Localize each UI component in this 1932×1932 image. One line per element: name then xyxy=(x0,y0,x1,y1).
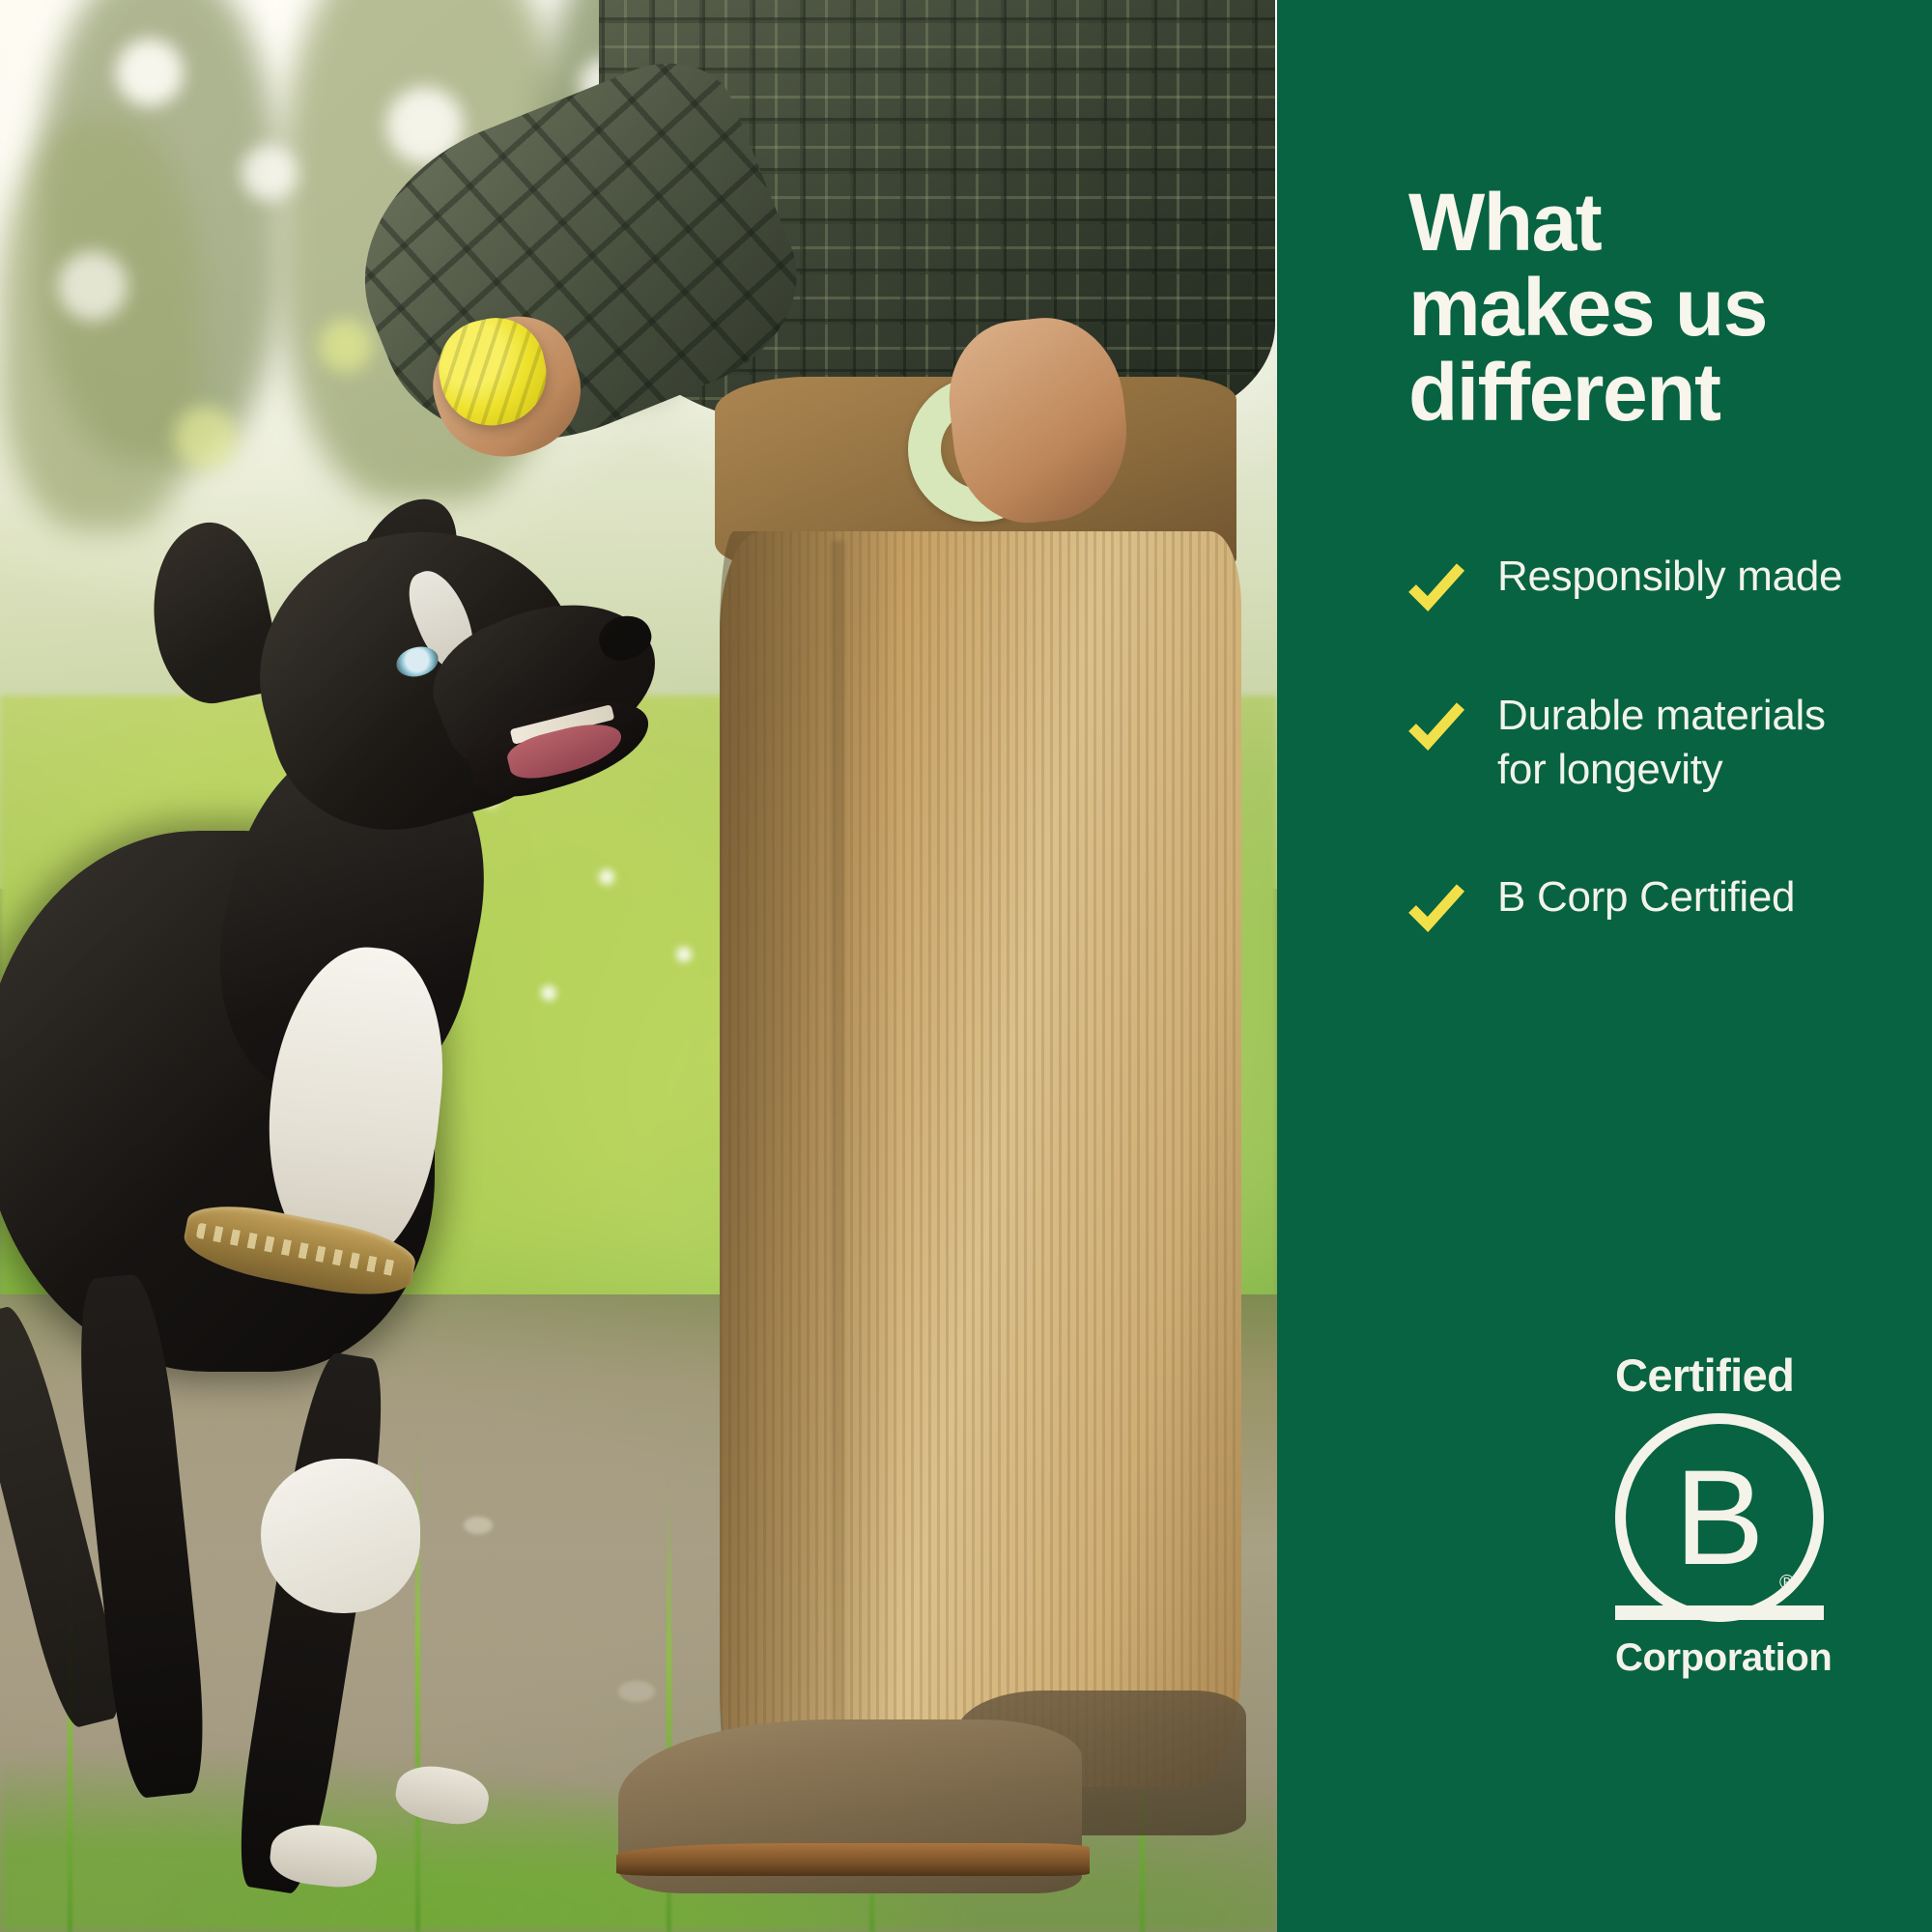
check-icon xyxy=(1408,559,1464,615)
check-icon xyxy=(1408,880,1464,936)
dog-chest-marking xyxy=(261,1459,420,1613)
feature-label: Durable materials for longevity xyxy=(1497,689,1845,798)
pants-shadow xyxy=(720,531,903,1787)
list-item: Responsibly made xyxy=(1408,550,1932,615)
bokeh-dot xyxy=(58,251,128,321)
info-panel: What makes us different Responsibly made… xyxy=(1277,0,1932,1932)
list-item: Durable materials for longevity xyxy=(1408,689,1932,798)
pants-seam xyxy=(831,541,844,1787)
boot-sole xyxy=(616,1843,1090,1876)
page-title: What makes us different xyxy=(1408,180,1814,436)
check-icon xyxy=(1408,698,1464,754)
lifestyle-photo xyxy=(0,0,1277,1932)
bokeh-dot xyxy=(116,39,184,106)
bokeh-dot xyxy=(174,406,238,469)
registered-trademark-icon: ® xyxy=(1779,1573,1794,1593)
feature-list: Responsibly made Durable materials for l… xyxy=(1408,550,1932,937)
bcorp-divider-bar xyxy=(1615,1605,1824,1620)
tree-silhouette xyxy=(0,116,203,531)
bokeh-dot xyxy=(241,145,298,201)
list-item: B Corp Certified xyxy=(1408,870,1932,936)
dog-paw xyxy=(392,1760,493,1830)
feature-label: B Corp Certified xyxy=(1497,870,1795,924)
dog-leg xyxy=(229,1350,396,1897)
bcorp-certified-text: Certified xyxy=(1615,1352,1880,1398)
bcorp-corporation-text: Corporation xyxy=(1615,1638,1832,1677)
b-corp-certified-logo: Certified B ® Corporation xyxy=(1590,1352,1880,1622)
person xyxy=(541,0,1277,1932)
promo-card: What makes us different Responsibly made… xyxy=(0,0,1932,1932)
bokeh-dot xyxy=(319,319,373,373)
feature-label: Responsibly made xyxy=(1497,550,1842,604)
